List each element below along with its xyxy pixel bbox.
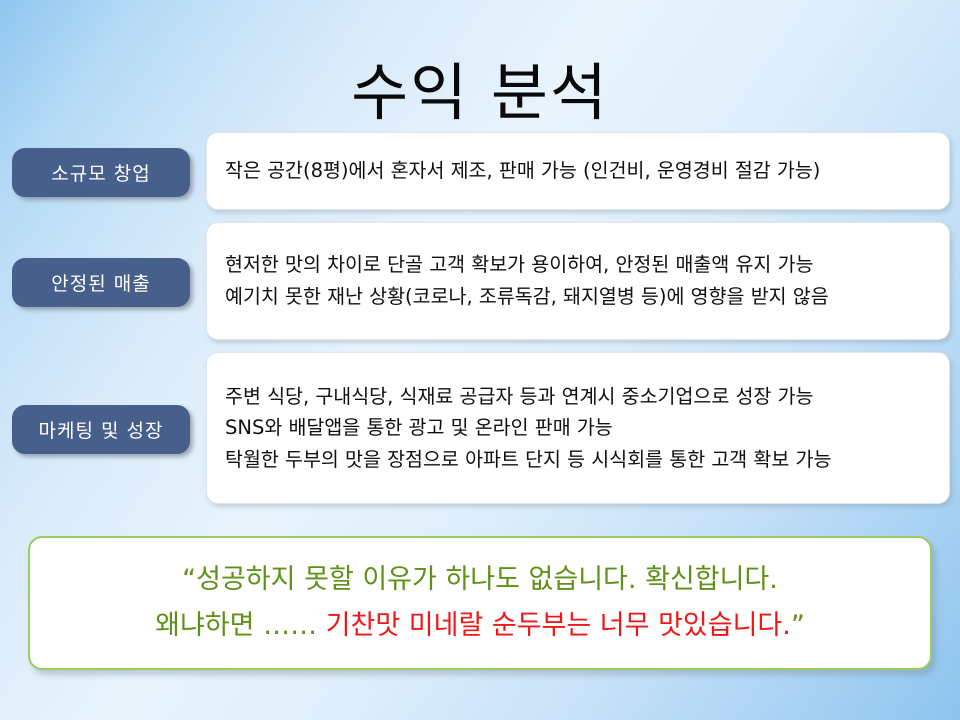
quote-green-prefix: 왜냐하면 ……	[155, 610, 317, 641]
slide: 수익 분석 소규모 창업 작은 공간(8평)에서 혼자서 제조, 판매 가능 (…	[0, 0, 960, 720]
content-rows: 소규모 창업 작은 공간(8평)에서 혼자서 제조, 판매 가능 (인건비, 운…	[0, 132, 960, 504]
content-line: 예기치 못한 재난 상황(코로나, 조류독감, 돼지열병 등)에 영향을 받지 …	[225, 281, 933, 313]
content-box-stable-sales: 현저한 맛의 차이로 단골 고객 확보가 용이하여, 안정된 매출액 유지 가능…	[206, 222, 950, 340]
content-row-1: 소규모 창업 작은 공간(8평)에서 혼자서 제조, 판매 가능 (인건비, 운…	[0, 132, 960, 210]
content-line: 주변 식당, 구내식당, 식재료 공급자 등과 연계시 중소기업으로 성장 가능	[225, 381, 933, 413]
row-label-marketing-growth: 마케팅 및 성장	[12, 405, 190, 454]
content-row-2: 안정된 매출 현저한 맛의 차이로 단골 고객 확보가 용이하여, 안정된 매출…	[0, 222, 960, 340]
content-line: 현저한 맛의 차이로 단골 고객 확보가 용이하여, 안정된 매출액 유지 가능	[225, 249, 933, 281]
content-line: 탁월한 두부의 맛을 장점으로 아파트 단지 등 시식회를 통한 고객 확보 가…	[225, 444, 933, 476]
page-title: 수익 분석	[351, 58, 609, 127]
content-line: SNS와 배달앱을 통한 광고 및 온라인 판매 가능	[225, 412, 933, 444]
quote-box: “성공하지 못할 이유가 하나도 없습니다. 확신합니다. 왜냐하면 …… 기찬…	[28, 536, 932, 670]
content-box-small-business: 작은 공간(8평)에서 혼자서 제조, 판매 가능 (인건비, 운영경비 절감 …	[206, 132, 950, 210]
content-row-3: 마케팅 및 성장 주변 식당, 구내식당, 식재료 공급자 등과 연계시 중소기…	[0, 352, 960, 504]
row-label-stable-sales: 안정된 매출	[12, 258, 190, 307]
quote-green-suffix: ”	[791, 610, 805, 641]
quote-line-2: 왜냐하면 …… 기찬맛 미네랄 순두부는 너무 맛있습니다.”	[155, 603, 805, 649]
content-box-marketing-growth: 주변 식당, 구내식당, 식재료 공급자 등과 연계시 중소기업으로 성장 가능…	[206, 352, 950, 504]
row-label-small-business: 소규모 창업	[12, 148, 190, 197]
quote-red-text: 기찬맛 미네랄 순두부는 너무 맛있습니다.	[317, 610, 791, 641]
quote-line-1: “성공하지 못할 이유가 하나도 없습니다. 확신합니다.	[182, 557, 778, 603]
content-line: 작은 공간(8평)에서 혼자서 제조, 판매 가능 (인건비, 운영경비 절감 …	[225, 155, 933, 187]
